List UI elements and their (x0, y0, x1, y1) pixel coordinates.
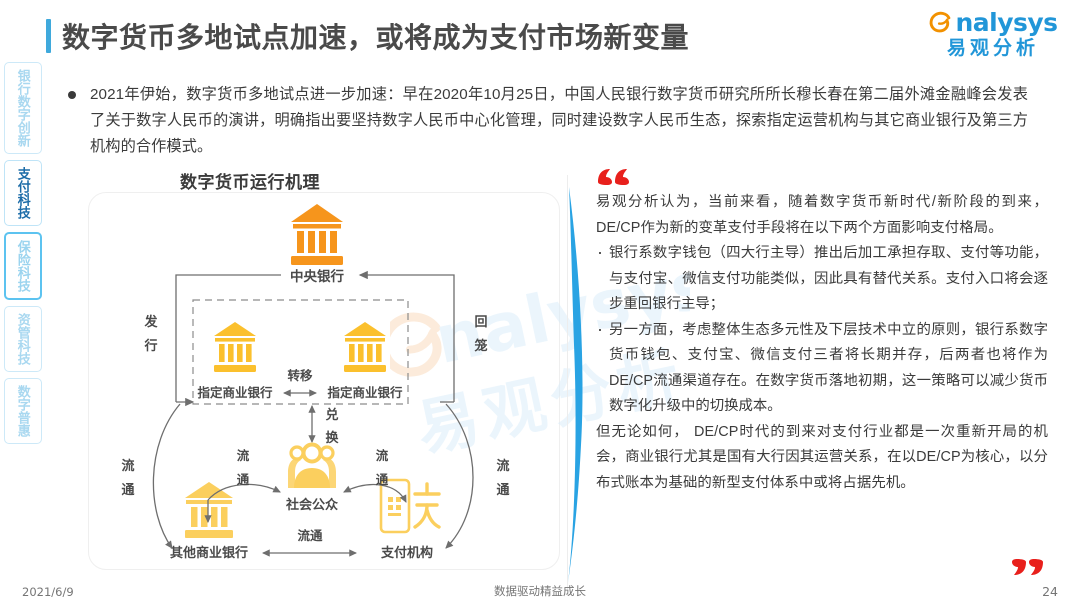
analysis-panel: 易观分析认为，当前来看，随着数字货币新时代/新阶段的到来，DE/CP作为新的变革… (596, 168, 1048, 496)
page-title-text: 数字货币多地试点加速，或将成为支付市场新变量 (62, 16, 689, 56)
analysys-swirl-icon (928, 10, 954, 36)
edge-label-circulate-mid-left-2: 通 (237, 472, 250, 487)
intro-paragraph: 2021年伊始，数字货币多地试点进一步加速：早在2020年10月25日，中国人民… (68, 82, 1028, 160)
analysis-bullet-list: 银行系数字钱包（四大行主导）推出后加工承担存取、支付等功能，与支付宝、微信支付功… (596, 241, 1048, 420)
edge-label-circulate-right-2: 通 (496, 482, 509, 497)
sidebar-item-insurance-tech[interactable]: 保险科技 (4, 232, 42, 300)
designated-bank-right-icon (344, 322, 386, 372)
sidebar-item-label: 数字普惠 (15, 385, 31, 437)
edge-label-transfer: 转移 (287, 368, 313, 383)
brand-logo: nalysys 易观分析 (928, 10, 1058, 68)
slide-root: nalysys 易观分析 数字货币多地试点加速，或将成为支付市场新变量 银行数字… (0, 0, 1080, 608)
edge-label-circulate-left-2: 通 (121, 482, 134, 497)
quote-open-icon (596, 168, 632, 186)
public-label: 社会公众 (285, 497, 338, 512)
footer-page-number: 24 (1042, 584, 1058, 599)
analysis-conclusion: 但无论如何， DE/CP时代的到来对支付行业都是一次重新开局的机会，商业银行尤其… (596, 420, 1048, 497)
title-accent-bar (46, 19, 51, 53)
designated-bank-right-label: 指定商业银行 (327, 385, 403, 400)
logo-wordmark: nalysys (955, 10, 1057, 36)
quote-close-icon (1010, 558, 1046, 576)
analysis-intro: 易观分析认为，当前来看，随着数字货币新时代/新阶段的到来，DE/CP作为新的变革… (596, 190, 1048, 241)
analysis-bullet-item: 另一方面，考虑整体生态多元性及下层技术中立的原则，银行系数字货币钱包、支付宝、微… (596, 318, 1048, 420)
other-commercial-bank-icon (185, 482, 233, 538)
sidebar-item-label: 保险科技 (15, 240, 31, 292)
sidebar-item-label: 资管科技 (15, 313, 31, 365)
central-bank-icon (291, 204, 343, 265)
edge-label-withdraw-2: 笼 (473, 338, 487, 353)
digital-currency-flow-diagram: 中央银行 发 行 回 笼 指定商业银行 (88, 192, 560, 570)
analysis-bullet-item: 银行系数字钱包（四大行主导）推出后加工承担存取、支付等功能，与支付宝、微信支付功… (596, 241, 1048, 318)
edge-label-circulate-left-1: 流 (121, 458, 134, 473)
central-bank-label: 中央银行 (290, 268, 344, 284)
edge-label-issue-2: 行 (143, 338, 157, 353)
footer-slogan: 数据驱动精益成长 (0, 583, 1080, 599)
public-crowd-icon (288, 445, 336, 489)
edge-label-circulate-bottom: 流通 (297, 528, 323, 543)
edge-label-issue-1: 发 (143, 314, 158, 329)
sidebar-item-label: 银行数字创新 (15, 69, 31, 147)
edge-label-circulate-right-1: 流 (496, 458, 509, 473)
other-commercial-bank-label: 其他商业银行 (170, 545, 248, 560)
edge-label-exchange-1: 兑 (325, 407, 338, 422)
payment-organization-label: 支付机构 (380, 545, 433, 560)
blue-lens-accent (555, 185, 595, 585)
bullet-dot-icon (68, 91, 76, 99)
edge-label-circulate-mid-left-1: 流 (237, 448, 250, 463)
intro-paragraph-text: 2021年伊始，数字货币多地试点进一步加速：早在2020年10月25日，中国人民… (90, 82, 1028, 160)
designated-bank-left-icon (214, 322, 256, 372)
logo-chinese-name: 易观分析 (928, 37, 1058, 61)
edge-label-exchange-2: 换 (325, 430, 339, 445)
designated-bank-left-label: 指定商业银行 (197, 385, 273, 400)
sidebar-item-digital-inclusive-finance[interactable]: 数字普惠 (4, 378, 42, 444)
edge-label-circulate-mid-right-2: 通 (376, 472, 389, 487)
edge-label-withdraw-1: 回 (474, 314, 487, 329)
edge-label-circulate-mid-right-1: 流 (376, 448, 389, 463)
sidebar-item-bank-digital-innovation[interactable]: 银行数字创新 (4, 62, 42, 154)
category-sidebar[interactable]: 银行数字创新 支付科技 保险科技 资管科技 数字普惠 (4, 62, 42, 444)
sidebar-item-asset-management-tech[interactable]: 资管科技 (4, 306, 42, 372)
page-title: 数字货币多地试点加速，或将成为支付市场新变量 (46, 16, 689, 56)
diagram-title: 数字货币运行机理 (0, 168, 500, 193)
